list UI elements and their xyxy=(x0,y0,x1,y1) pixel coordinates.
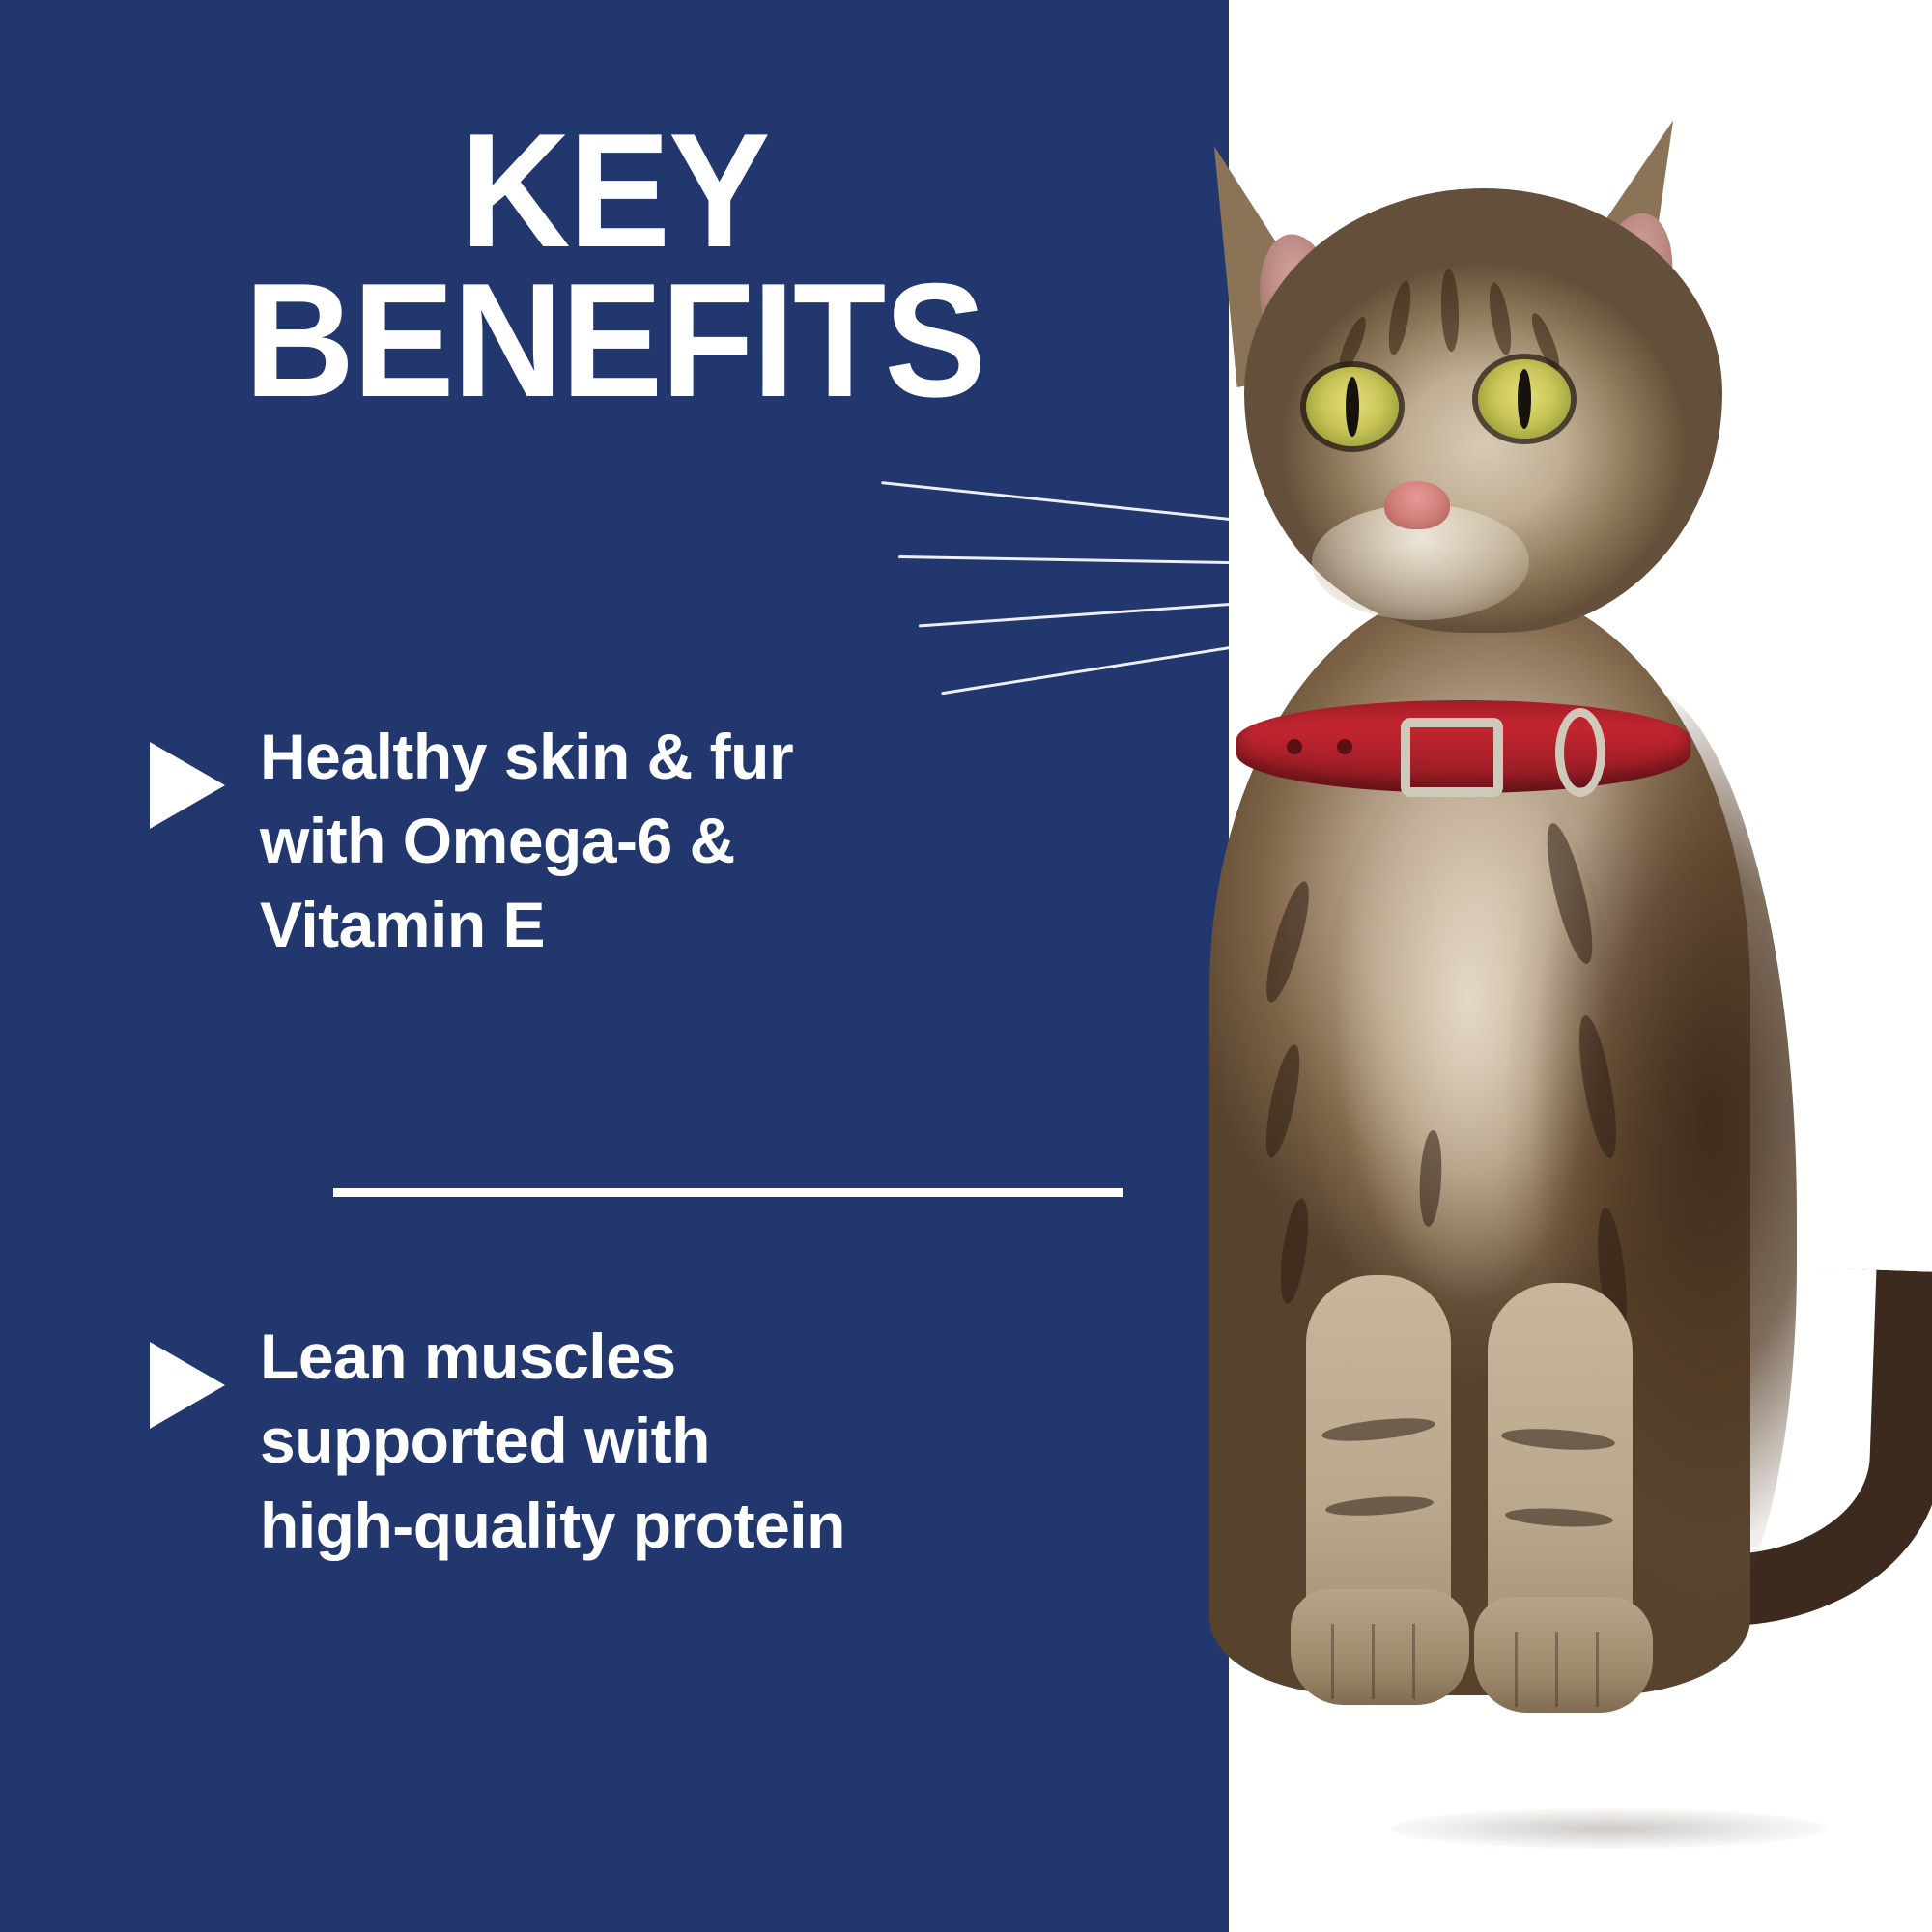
cat-paw-right xyxy=(1474,1597,1653,1713)
cat-collar xyxy=(1236,700,1690,793)
key-benefits-panel: KEY BENEFITS Healthy skin & fur with Ome… xyxy=(0,0,1932,1932)
cat-ground-shadow xyxy=(1391,1808,1826,1849)
cat-photo xyxy=(1101,145,1932,1932)
benefit-gap xyxy=(0,967,1229,1315)
triangle-right-icon xyxy=(150,742,225,829)
benefits-list: Healthy skin & fur with Omega-6 & Vitami… xyxy=(0,715,1229,1568)
list-item: Healthy skin & fur with Omega-6 & Vitami… xyxy=(0,715,1229,967)
cat-eye-left xyxy=(1306,367,1399,446)
triangle-right-icon xyxy=(150,1342,225,1429)
page-title-line-1: KEY xyxy=(37,116,1192,266)
benefit-text: Lean muscles supported with high-quality… xyxy=(260,1315,994,1567)
collar-buckle-icon xyxy=(1401,718,1503,797)
benefits-divider xyxy=(333,1188,1123,1197)
cat-eye-right xyxy=(1478,359,1571,439)
list-item: Lean muscles supported with high-quality… xyxy=(0,1315,1229,1567)
page-title: KEY BENEFITS xyxy=(37,116,1192,414)
cat-paw-left xyxy=(1291,1589,1469,1705)
page-title-line-2: BENEFITS xyxy=(37,266,1192,415)
benefit-text: Healthy skin & fur with Omega-6 & Vitami… xyxy=(260,715,994,967)
collar-ring-icon xyxy=(1555,708,1605,797)
cat-nose xyxy=(1384,481,1450,529)
